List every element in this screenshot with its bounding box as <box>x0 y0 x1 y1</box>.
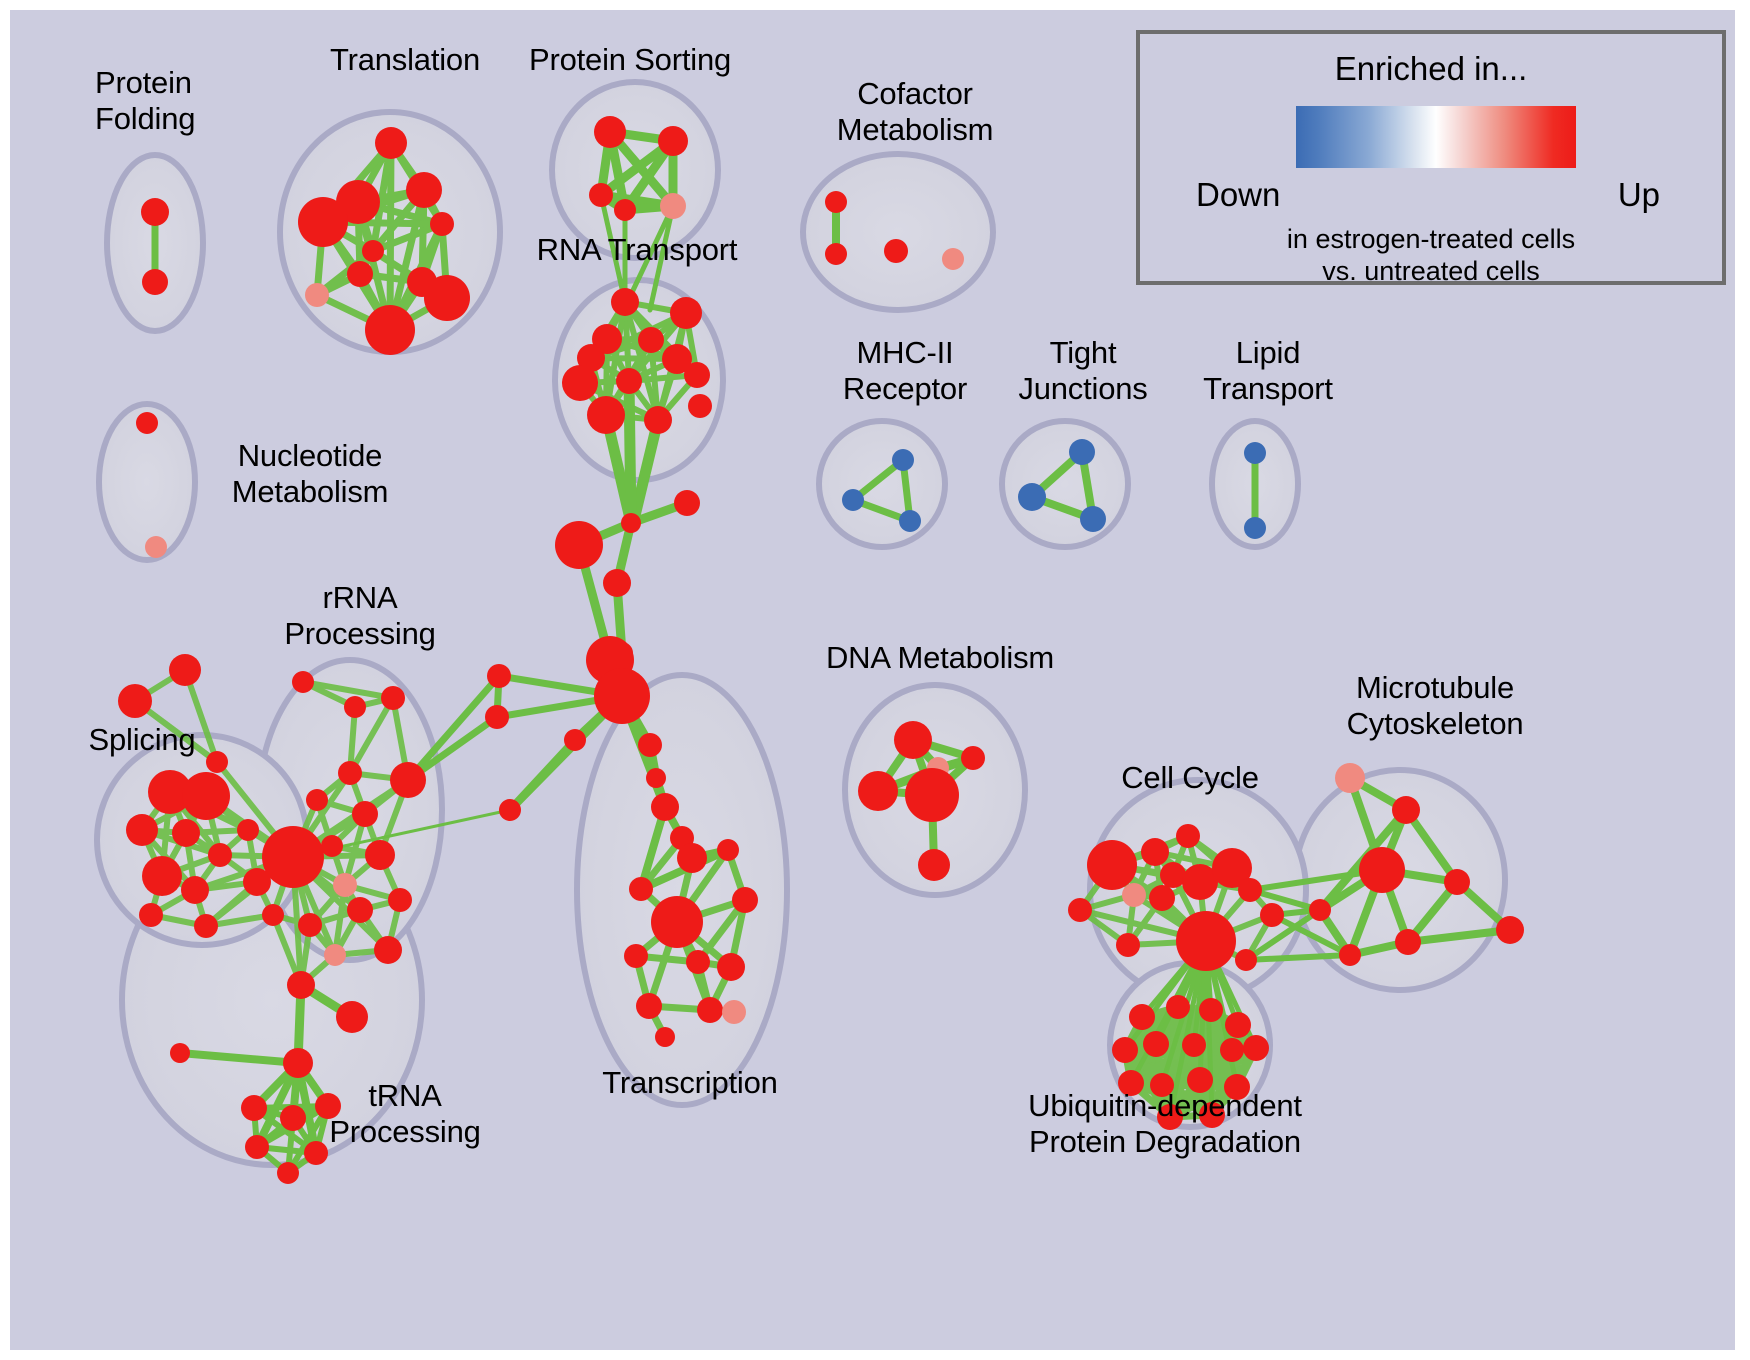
cluster-label-protein-sorting: Protein Sorting <box>500 42 760 78</box>
legend-down-label: Down <box>1196 176 1280 214</box>
cluster-label-lipid-transport: Lipid Transport <box>1173 335 1363 407</box>
color-scale-bar <box>1296 106 1576 168</box>
cluster-label-dna-metabolism: DNA Metabolism <box>805 640 1075 676</box>
legend-title: Enriched in... <box>1140 50 1722 88</box>
cluster-label-microtubule: Microtubule Cytoskeleton <box>1310 670 1560 742</box>
legend-subtitle-2: vs. untreated cells <box>1140 256 1722 287</box>
hull-mhcii <box>819 421 945 547</box>
legend-up-label: Up <box>1618 176 1660 214</box>
cluster-label-splicing: Splicing <box>62 722 222 758</box>
cluster-label-cofactor-metabolism: Cofactor Metabolism <box>800 76 1030 148</box>
cluster-label-transcription: Transcription <box>575 1065 805 1101</box>
figure-canvas: Protein Folding Translation Protein Sort… <box>10 10 1735 1350</box>
cluster-label-ubiquitin: Ubiquitin-dependent Protein Degradation <box>985 1088 1345 1160</box>
cluster-label-trna-processing: tRNA Processing <box>305 1078 505 1150</box>
hull-tight-junctions <box>1002 421 1128 547</box>
legend-subtitle-1: in estrogen-treated cells <box>1140 224 1722 255</box>
cluster-label-tight-junctions: Tight Junctions <box>988 335 1178 407</box>
cluster-label-cell-cycle: Cell Cycle <box>1095 760 1285 796</box>
cluster-label-rrna-processing: rRNA Processing <box>260 580 460 652</box>
cluster-label-nucleotide-metabolism: Nucleotide Metabolism <box>195 438 425 510</box>
hull-cofactor <box>803 154 993 310</box>
cluster-label-translation: Translation <box>295 42 515 78</box>
cluster-label-mhc-ii-receptor: MHC-II Receptor <box>810 335 1000 407</box>
cluster-label-rna-transport: RNA Transport <box>512 232 762 268</box>
cluster-label-protein-folding: Protein Folding <box>95 65 295 137</box>
legend-panel: Enriched in... Down Up in estrogen-treat… <box>1136 30 1726 285</box>
